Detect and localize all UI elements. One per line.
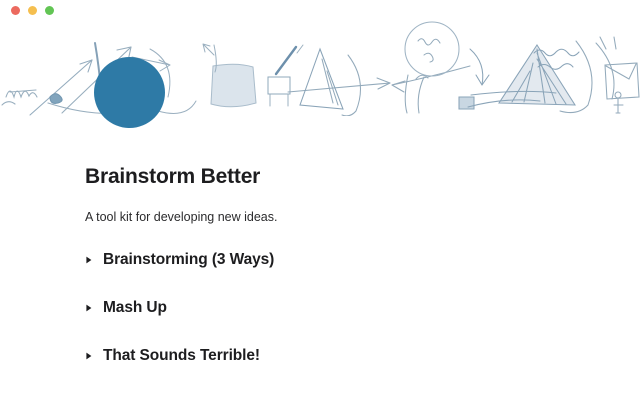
section-item-label: Mash Up	[103, 299, 167, 317]
section-item-mash-up[interactable]: Mash Up	[83, 296, 583, 320]
window-titlebar	[0, 0, 640, 19]
disclosure-triangle-icon[interactable]	[83, 350, 95, 362]
disclosure-triangle-icon[interactable]	[83, 302, 95, 314]
minimize-button[interactable]	[28, 6, 37, 15]
window-controls	[11, 6, 54, 15]
app-window: Brainstorm Better A tool kit for develop…	[0, 0, 640, 400]
maximize-button[interactable]	[45, 6, 54, 15]
section-item-that-sounds-terrible[interactable]: That Sounds Terrible!	[83, 344, 583, 368]
section-list: Brainstorming (3 Ways) Mash Up That Soun…	[83, 248, 583, 392]
section-item-label: Brainstorming (3 Ways)	[103, 251, 274, 269]
section-item-brainstorming[interactable]: Brainstorming (3 Ways)	[83, 248, 583, 272]
disclosure-triangle-icon[interactable]	[83, 254, 95, 266]
avatar-circle	[94, 57, 165, 128]
section-item-label: That Sounds Terrible!	[103, 347, 260, 365]
page-title: Brainstorm Better	[85, 165, 260, 189]
close-button[interactable]	[11, 6, 20, 15]
page-subtitle: A tool kit for developing new ideas.	[85, 210, 277, 224]
